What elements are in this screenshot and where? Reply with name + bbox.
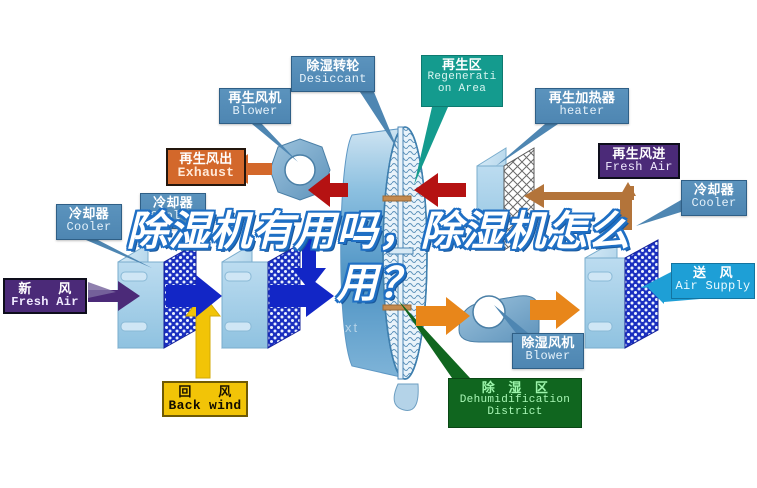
label-dehum-district-cn: 除 湿 区	[449, 381, 581, 395]
label-dehum-blower-cn: 除湿风机	[513, 336, 583, 350]
label-cooler-right-cn: 冷却器	[682, 183, 746, 197]
label-back-wind[interactable]: 回 风 Back wind	[162, 381, 248, 417]
label-exhaust[interactable]: 再生风出 Exhaust	[166, 148, 246, 186]
label-regen-blower-en: Blower	[220, 105, 290, 118]
headline-overlay: 除湿机有用吗，除湿机怎么 用？	[0, 205, 757, 309]
label-regen-fresh-air[interactable]: 再生风进 Fresh Air	[598, 143, 680, 179]
headline-line-1: 除湿机有用吗，除湿机怎么	[0, 205, 757, 257]
label-exhaust-en: Exhaust	[168, 166, 244, 180]
label-desiccant[interactable]: 除湿转轮 Desiccant	[291, 56, 375, 92]
label-desiccant-en: Desiccant	[292, 73, 374, 86]
label-regen-blower-cn: 再生风机	[220, 91, 290, 105]
label-back-wind-en: Back wind	[164, 399, 246, 413]
label-regen-fresh-air-en: Fresh Air	[600, 161, 678, 174]
label-regeneration-area[interactable]: 再生区 Regenerati on Area	[421, 55, 503, 107]
label-dehum-blower[interactable]: 除湿风机 Blower	[512, 333, 584, 369]
label-regeneration-area-cn: 再生区	[422, 58, 502, 72]
label-desiccant-cn: 除湿转轮	[292, 59, 374, 73]
label-regen-blower[interactable]: 再生风机 Blower	[219, 88, 291, 124]
label-regen-fresh-air-cn: 再生风进	[600, 147, 678, 161]
regen-blower-fan	[270, 139, 330, 200]
label-regeneration-area-en2: on Area	[422, 84, 502, 96]
label-exhaust-cn: 再生风出	[168, 152, 244, 166]
label-back-wind-cn: 回 风	[164, 385, 246, 399]
label-regen-heater[interactable]: 再生加热器 heater	[535, 88, 629, 124]
headline-line-2: 用？	[0, 257, 757, 309]
label-dehum-blower-en: Blower	[513, 350, 583, 363]
label-regen-heater-en: heater	[536, 105, 628, 118]
watermark: xt	[345, 320, 359, 335]
diagram-canvas: 再生风机 Blower 除湿转轮 Desiccant 再生区 Regenerat…	[0, 0, 757, 488]
label-dehum-district-en2: District	[449, 407, 581, 419]
label-dehumidification-district[interactable]: 除 湿 区 Dehumidification District	[448, 378, 582, 428]
label-regen-heater-cn: 再生加热器	[536, 91, 628, 105]
